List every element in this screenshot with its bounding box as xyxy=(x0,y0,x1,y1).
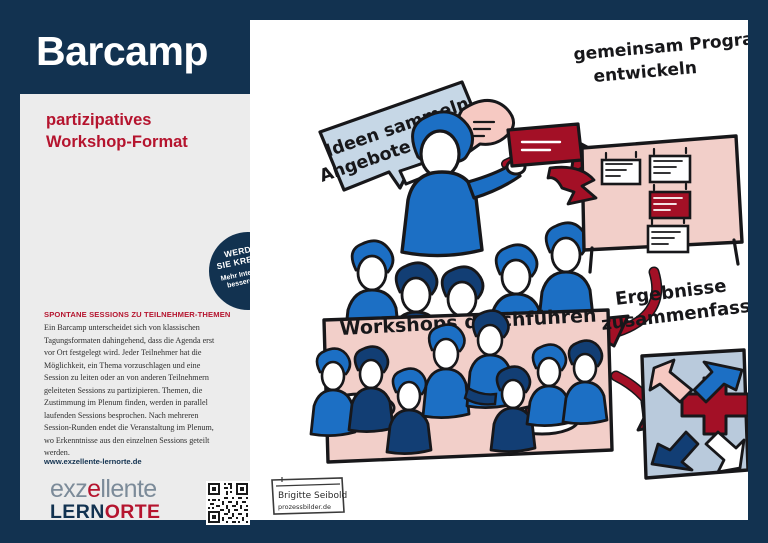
body-copy: Ein Barcamp unterscheidet sich von klass… xyxy=(44,322,222,460)
step2-label-line2: entwickeln xyxy=(593,58,698,87)
poster-canvas: Barcamp partizipatives Workshop-Format W… xyxy=(20,20,748,520)
website-url[interactable]: www.exzellente-lernorte.de xyxy=(44,457,142,466)
results-panel xyxy=(642,350,748,478)
logo-word-exzellente: exzellente xyxy=(50,477,190,502)
body-kicker: SPONTANE SESSIONS ZU TEILNEHMER-THEMEN xyxy=(44,310,234,319)
left-column: Barcamp partizipatives Workshop-Format W… xyxy=(20,20,250,520)
page-title: Barcamp xyxy=(36,31,208,72)
step2-label-line1: gemeinsam Programm xyxy=(573,26,748,65)
signature-stamp: Brigitte Seibold prozessbilder.de xyxy=(272,477,347,514)
title-bar: Barcamp xyxy=(20,20,250,94)
subtitle-line-1: partizipatives xyxy=(46,110,236,132)
logo-word-lernorte: LERNORTE xyxy=(50,503,190,523)
signature-site: prozessbilder.de xyxy=(278,503,331,511)
red-card-icon xyxy=(508,124,582,166)
poster-root: Barcamp partizipatives Workshop-Format W… xyxy=(0,0,768,543)
subtitle: partizipatives Workshop-Format xyxy=(46,110,236,154)
qr-code-icon[interactable] xyxy=(206,481,250,525)
logo: exzellente LERNORTE xyxy=(50,477,190,523)
subtitle-line-2: Workshop-Format xyxy=(46,132,236,154)
illustration-panel: Ideen sammeln Angebote vorstellen xyxy=(250,20,748,520)
signature-name: Brigitte Seibold xyxy=(278,491,347,501)
